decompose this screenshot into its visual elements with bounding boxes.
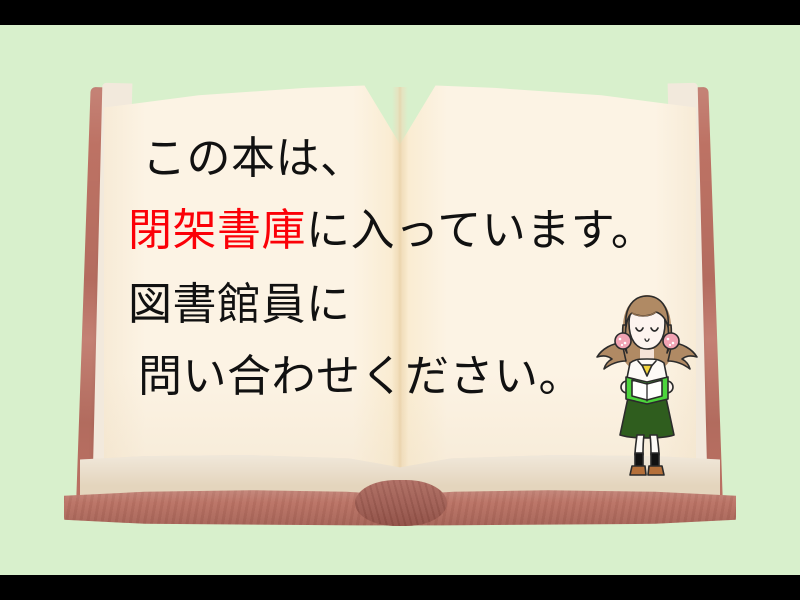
- book-spine-bump-texture: [355, 480, 447, 526]
- notice-highlight-term: 閉架書庫: [128, 205, 306, 256]
- notice-line-2: 閉架書庫に入っています。: [128, 209, 688, 253]
- book-spine-bump: [355, 480, 447, 526]
- letterbox-top: [0, 0, 800, 25]
- girl-reading-book-illustration: [592, 283, 702, 483]
- letterbox-bottom: [0, 575, 800, 600]
- slide-canvas: この本は、 閉架書庫に入っています。 図書館員に 問い合わせください。: [0, 0, 800, 600]
- notice-line-2-rest: に入っています。: [306, 205, 655, 256]
- slide-stage: この本は、 閉架書庫に入っています。 図書館員に 問い合わせください。: [0, 25, 800, 575]
- notice-line-1: この本は、: [142, 137, 688, 181]
